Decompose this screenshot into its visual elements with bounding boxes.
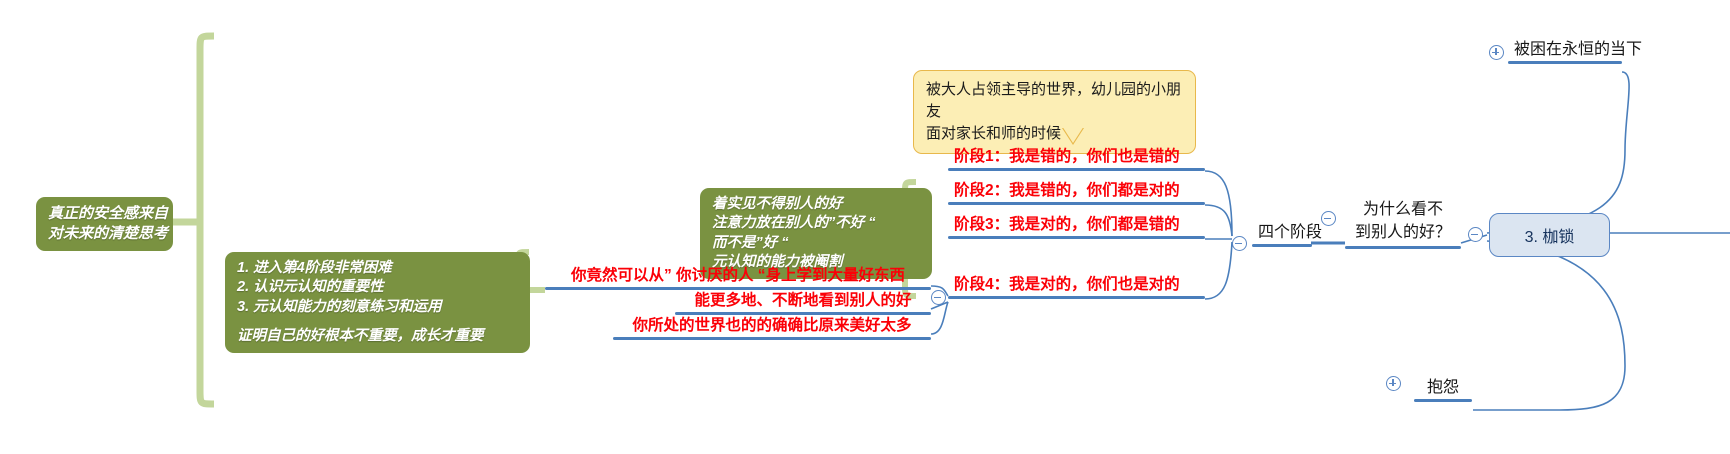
question-line: 到别人的好？ bbox=[1345, 223, 1461, 246]
group-label: 四个阶段 bbox=[1252, 218, 1312, 244]
note-line: 证明自己的好根本不重要，成长才重要 bbox=[237, 328, 484, 344]
callout-line: 面对家长和师的时候 bbox=[926, 123, 1183, 145]
note-line: 3. 元认知能力的刻意练习和运用 bbox=[237, 299, 442, 315]
note-line: 对未来的清楚思考 bbox=[48, 225, 168, 242]
stage-item-3[interactable]: 阶段3：我是对的，你们都是错的 bbox=[948, 212, 1205, 239]
node-complain[interactable]: 抱怨 bbox=[1414, 373, 1472, 402]
benefit-item-2[interactable]: 能更多地、不断地看到别人的好 bbox=[675, 288, 931, 315]
branch-rule bbox=[948, 236, 1205, 239]
benefit-item-1[interactable]: 你竟然可以从” 你讨厌的人 “身上学到大量好东西 bbox=[545, 263, 931, 290]
node-why-cant-see-others-good[interactable]: 为什么看不 到别人的好？ bbox=[1345, 200, 1461, 249]
mindmap-canvas: 真正的安全感来自 对未来的清楚思考 1. 进入第4阶段非常困难 2. 认识元认知… bbox=[0, 0, 1730, 454]
branch-label: 被困在永恒的当下 bbox=[1508, 35, 1622, 61]
expand-plus-icon-complain[interactable] bbox=[1386, 376, 1401, 391]
branch-rule bbox=[948, 202, 1205, 205]
branch-rule bbox=[1508, 61, 1622, 64]
stage-item-2[interactable]: 阶段2：我是错的，你们都是对的 bbox=[948, 178, 1205, 205]
note-line: 着实见不得别人的好 bbox=[712, 196, 843, 212]
note-line: 2. 认识元认知的重要性 bbox=[237, 279, 384, 295]
stage-label: 阶段4：我是对的，你们也是对的 bbox=[948, 272, 1205, 296]
note-metacognition[interactable]: 1. 进入第4阶段非常困难 2. 认识元认知的重要性 3. 元认知能力的刻意练习… bbox=[225, 252, 530, 353]
stage-label: 阶段2：我是错的，你们都是对的 bbox=[948, 178, 1205, 202]
note-spacer bbox=[237, 317, 518, 327]
branch-rule bbox=[1345, 246, 1461, 249]
stage-item-4[interactable]: 阶段4：我是对的，你们也是对的 bbox=[948, 272, 1205, 299]
stage-label: 阶段3：我是对的，你们都是错的 bbox=[948, 212, 1205, 236]
branch-rule bbox=[1414, 399, 1472, 402]
expand-plus-icon-trapped[interactable] bbox=[1489, 45, 1504, 60]
branch-rule bbox=[948, 168, 1205, 171]
stage-label: 阶段1：我是错的，你们也是错的 bbox=[948, 144, 1205, 168]
callout-tail-icon bbox=[1062, 126, 1084, 143]
note-line: 真正的安全感来自 bbox=[48, 205, 168, 222]
benefit-label: 你所处的世界也的的确确比原来美好太多 bbox=[613, 313, 931, 337]
callout-line: 被大人占领主导的世界，幼儿园的小朋友 bbox=[926, 79, 1183, 123]
question-line: 为什么看不 bbox=[1345, 200, 1461, 223]
collapse-minus-icon-question[interactable] bbox=[1321, 211, 1336, 226]
benefit-label: 你竟然可以从” 你讨厌的人 “身上学到大量好东西 bbox=[545, 263, 931, 287]
note-true-security[interactable]: 真正的安全感来自 对未来的清楚思考 bbox=[36, 197, 173, 251]
branch-rule bbox=[1252, 244, 1312, 247]
stage-item-1[interactable]: 阶段1：我是错的，你们也是错的 bbox=[948, 144, 1205, 171]
note-line: 而不是”好 “ bbox=[712, 235, 789, 251]
collapse-minus-icon-stage-4[interactable] bbox=[931, 290, 946, 305]
branch-label: 抱怨 bbox=[1414, 373, 1472, 399]
benefit-label: 能更多地、不断地看到别人的好 bbox=[675, 288, 931, 312]
collapse-minus-icon-root[interactable] bbox=[1468, 227, 1483, 242]
group-four-stages[interactable]: 四个阶段 bbox=[1252, 218, 1312, 247]
callout-adult-dominated-world[interactable]: 被大人占领主导的世界，幼儿园的小朋友 面对家长和师的时候 bbox=[913, 70, 1196, 154]
branch-rule bbox=[948, 296, 1205, 299]
node-trapped-in-eternal-present[interactable]: 被困在永恒的当下 bbox=[1508, 35, 1622, 64]
note-line: 1. 进入第4阶段非常困难 bbox=[237, 260, 392, 276]
benefit-item-3[interactable]: 你所处的世界也的的确确比原来美好太多 bbox=[613, 313, 931, 340]
root-label: 3. 枷锁 bbox=[1525, 229, 1575, 246]
branch-rule bbox=[613, 337, 931, 340]
collapse-minus-icon-four-stages[interactable] bbox=[1232, 236, 1247, 251]
note-line: 注意力放在别人的”不好 “ bbox=[712, 215, 876, 231]
root-node-shackles[interactable]: 3. 枷锁 bbox=[1489, 213, 1610, 257]
